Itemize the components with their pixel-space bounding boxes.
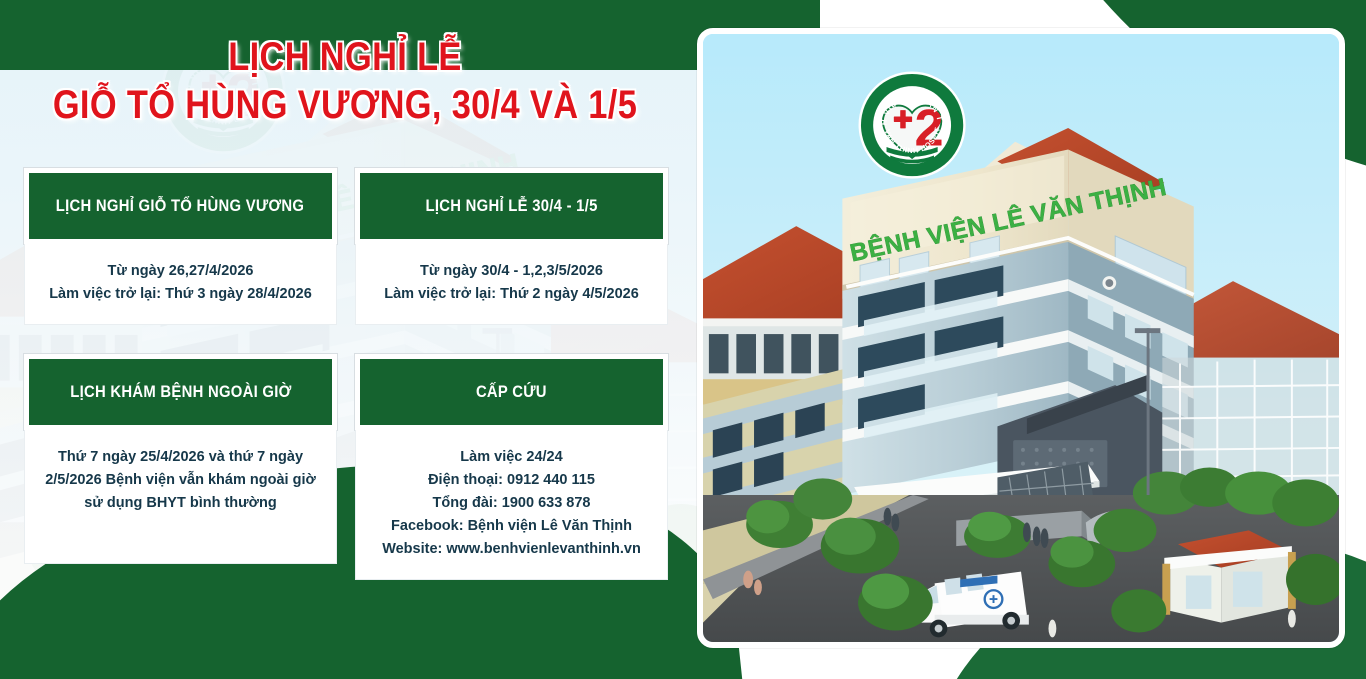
- card-body-line: Làm việc trở lại: Thứ 2 ngày 4/5/2026: [368, 283, 655, 306]
- title-line-1: LỊCH NGHỈ LỄ: [48, 34, 641, 80]
- card-header-label: LỊCH KHÁM BỆNH NGOÀI GIỜ: [70, 383, 291, 402]
- card-body-line: Website: www.benhvienlevanthinh.vn: [368, 538, 655, 561]
- card-body: Thứ 7 ngày 25/4/2026 và thứ 7 ngày 2/5/2…: [24, 430, 337, 564]
- card-body-line: Làm việc 24/24: [368, 446, 655, 469]
- card-header-label: CẤP CỨU: [476, 383, 547, 402]
- card-row-bottom: LỊCH KHÁM BỆNH NGOÀI GIỜ Thứ 7 ngày 25/4…: [24, 354, 669, 580]
- card-after-hours-examination: LỊCH KHÁM BỆNH NGOÀI GIỜ Thứ 7 ngày 25/4…: [24, 354, 337, 580]
- card-row-top: LỊCH NGHỈ GIỖ TỔ HÙNG VƯƠNG Từ ngày 26,2…: [24, 168, 669, 325]
- schedule-cards-grid: LỊCH NGHỈ GIỖ TỔ HÙNG VƯƠNG Từ ngày 26,2…: [24, 168, 669, 580]
- card-apr30-may1-holiday: LỊCH NGHỈ LỄ 30/4 - 1/5 Từ ngày 30/4 - 1…: [355, 168, 668, 325]
- card-body-line: Tổng đài: 1900 633 878: [368, 492, 655, 515]
- card-body-line: Thứ 7 ngày 25/4/2026 và thứ 7 ngày 2/5/2…: [37, 446, 324, 515]
- card-body-line: Làm việc trở lại: Thứ 3 ngày 28/4/2026: [37, 283, 324, 306]
- card-body: Từ ngày 30/4 - 1,2,3/5/2026 Làm việc trở…: [355, 244, 668, 325]
- card-body-line: Điện thoại: 0912 440 115: [368, 469, 655, 492]
- card-header-label: LỊCH NGHỈ LỄ 30/4 - 1/5: [425, 197, 597, 216]
- card-body-line: Facebook: Bệnh viện Lê Văn Thịnh: [368, 515, 655, 538]
- title-line-2: GIỖ TỔ HÙNG VƯƠNG, 30/4 VÀ 1/5: [48, 80, 641, 130]
- card-body-line: Từ ngày 26,27/4/2026: [37, 260, 324, 283]
- card-body: Từ ngày 26,27/4/2026 Làm việc trở lại: T…: [24, 244, 337, 325]
- card-header: CẤP CỨU: [355, 354, 668, 430]
- card-header: LỊCH NGHỈ LỄ 30/4 - 1/5: [355, 168, 668, 244]
- card-body-line: Từ ngày 30/4 - 1,2,3/5/2026: [368, 260, 655, 283]
- page-title: LỊCH NGHỈ LỄ GIỖ TỔ HÙNG VƯƠNG, 30/4 VÀ …: [0, 34, 690, 130]
- card-header-label: LỊCH NGHỈ GIỖ TỔ HÙNG VƯƠNG: [56, 197, 304, 216]
- poster-canvas: LỊCH NGHỈ LỄ GIỖ TỔ HÙNG VƯƠNG, 30/4 VÀ …: [0, 0, 1366, 679]
- hospital-photo-panel: [697, 28, 1345, 648]
- card-header: LỊCH KHÁM BỆNH NGOÀI GIỜ: [24, 354, 337, 430]
- card-emergency: CẤP CỨU Làm việc 24/24 Điện thoại: 0912 …: [355, 354, 668, 580]
- card-hung-vuong-holiday: LỊCH NGHỈ GIỖ TỔ HÙNG VƯƠNG Từ ngày 26,2…: [24, 168, 337, 325]
- card-header: LỊCH NGHỈ GIỖ TỔ HÙNG VƯƠNG: [24, 168, 337, 244]
- card-body: Làm việc 24/24 Điện thoại: 0912 440 115 …: [355, 430, 668, 580]
